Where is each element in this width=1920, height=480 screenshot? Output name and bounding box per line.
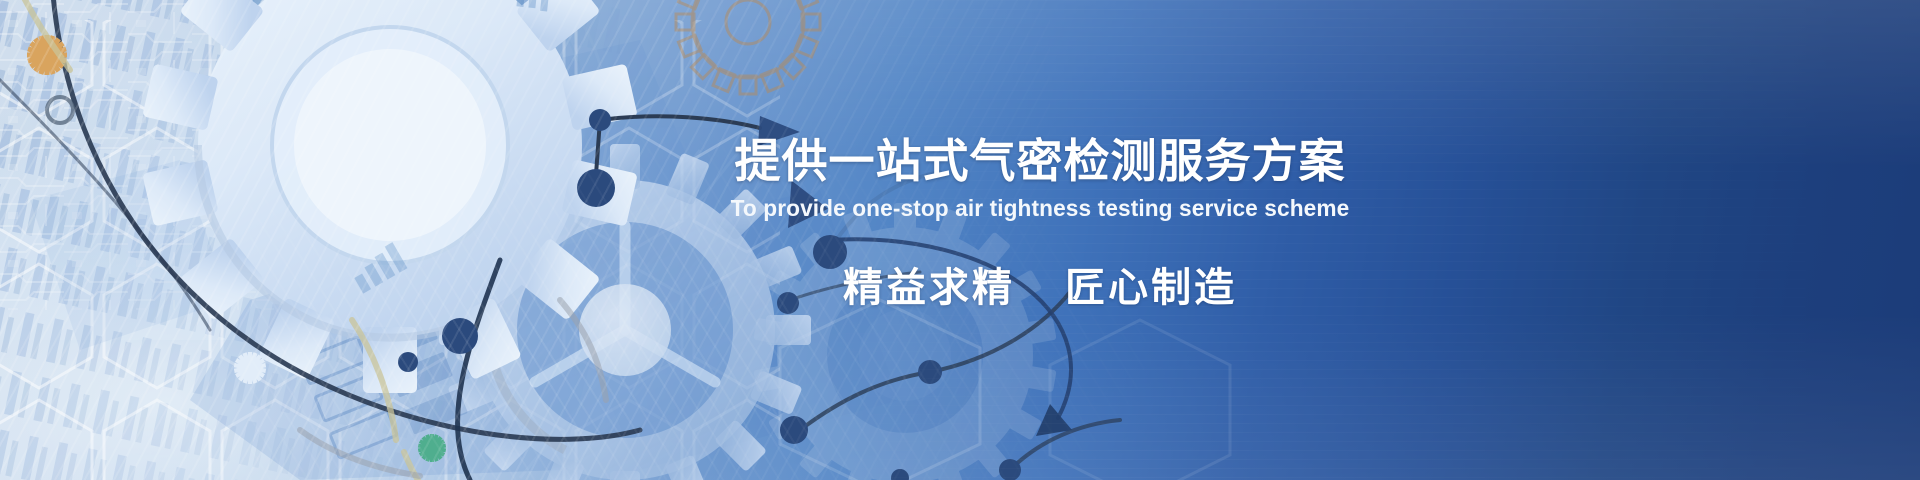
banner-tagline-part1: 精益求精	[843, 266, 1015, 310]
hero-banner: 提供一站式气密检测服务方案 To provide one-stop air ti…	[0, 0, 1920, 480]
banner-tagline: 精益求精 匠心制造	[660, 264, 1420, 312]
banner-headline: 提供一站式气密检测服务方案	[660, 136, 1420, 188]
banner-copy: 提供一站式气密检测服务方案 To provide one-stop air ti…	[660, 136, 1420, 312]
banner-subline: To provide one-stop air tightness testin…	[673, 194, 1406, 222]
banner-tagline-part2: 匠心制造	[1065, 266, 1237, 310]
